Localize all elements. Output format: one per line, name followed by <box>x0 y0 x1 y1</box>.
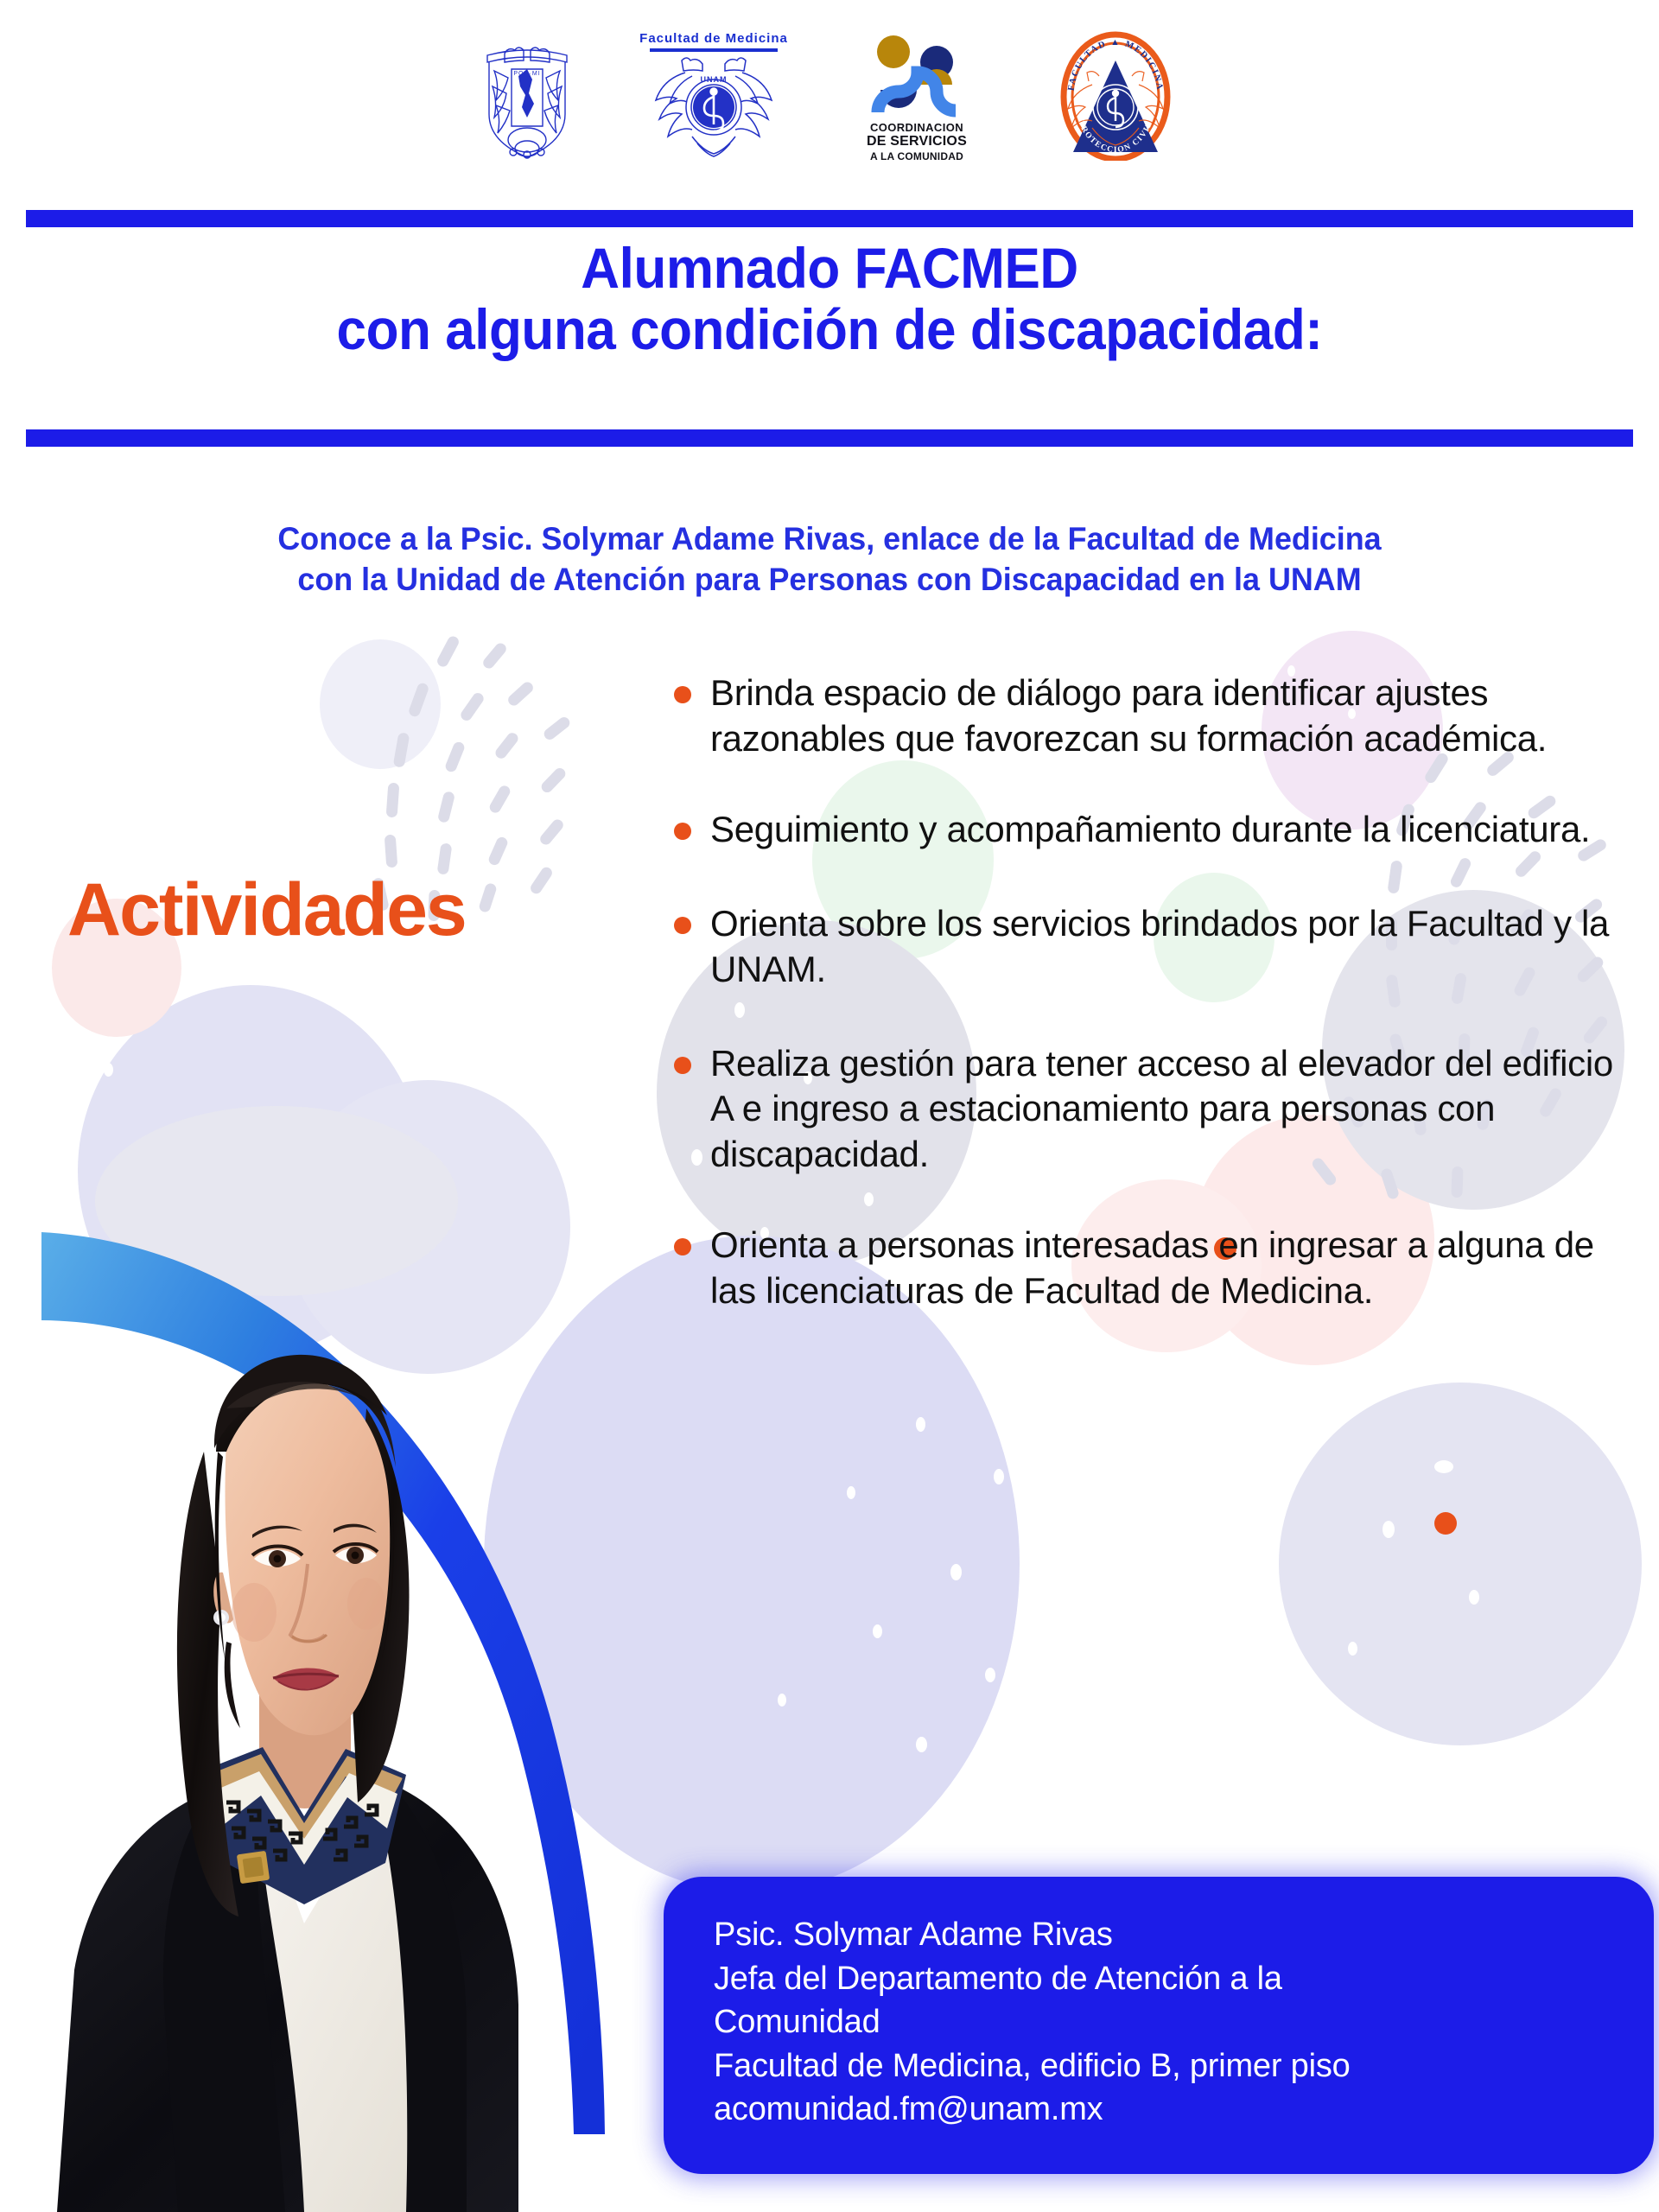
decor-blob-lavender-right <box>1279 1382 1642 1745</box>
proteccion-civil-icon: FACULTAD ▲ MEDICINA PROTECCION CIVIL <box>1051 31 1180 161</box>
activity-item: Realiza gestión para tener acceso al ele… <box>671 1041 1621 1179</box>
bullet-dot-icon <box>674 823 691 840</box>
decor-dash <box>459 691 486 723</box>
decor-dash <box>542 715 572 741</box>
unam-shield-icon: POR·MI <box>479 31 575 161</box>
decor-speckle <box>216 1175 225 1189</box>
decor-dash <box>435 634 461 669</box>
decor-dash <box>487 836 510 867</box>
activity-text: Brinda espacio de diálogo para identific… <box>710 672 1547 759</box>
decor-dash <box>539 766 568 794</box>
unam-shield-logo: POR·MI <box>479 31 575 161</box>
coordinacion-wordmark: COORDINACION DE SERVICIOS A LA COMUNIDAD <box>867 121 967 162</box>
decor-speckle <box>847 1486 855 1499</box>
contact-card: Psic. Solymar Adame Rivas Jefa del Depar… <box>664 1877 1654 2174</box>
coordinacion-line1: COORDINACION <box>867 121 967 134</box>
decor-speckle <box>104 1063 113 1077</box>
portrait-photo <box>0 1192 691 2212</box>
activity-item: Orienta sobre los servicios brindados po… <box>671 901 1621 993</box>
contact-role-line1: Jefa del Departamento de Atención a la <box>714 1957 1654 2001</box>
title-rule-top <box>26 210 1633 227</box>
decor-speckle <box>976 1348 988 1365</box>
activity-item: Orienta a personas interesadas en ingres… <box>671 1223 1621 1314</box>
subtitle: Conoce a la Psic. Solymar Adame Rivas, e… <box>25 518 1634 601</box>
fm-eagle-icon: UNAM <box>649 54 779 159</box>
bullet-dot-icon <box>674 1057 691 1074</box>
decor-speckle <box>1469 1590 1479 1605</box>
fm-logo-title: Facultad de Medicina <box>639 31 788 46</box>
page-title-line1: Alumnado FACMED <box>50 238 1610 299</box>
bullet-dot-icon <box>674 917 691 934</box>
decor-dash <box>437 791 455 823</box>
decor-speckle <box>873 1624 882 1638</box>
decor-speckle <box>985 1668 995 1682</box>
decor-dash <box>538 817 566 847</box>
portrait-block <box>0 1192 691 2212</box>
subtitle-line2: con la Unidad de Atención para Personas … <box>25 559 1634 600</box>
decor-dash <box>385 835 398 868</box>
fm-logo-rule <box>650 48 778 52</box>
page-title-line2: con alguna condición de discapacidad: <box>50 299 1610 360</box>
proteccion-civil-logo: FACULTAD ▲ MEDICINA PROTECCION CIVIL <box>1051 31 1180 161</box>
poster-root: POR·MI Facultad de Medicina <box>0 0 1659 2212</box>
activity-text: Orienta a personas interesadas en ingres… <box>710 1224 1594 1311</box>
decor-speckle <box>950 1564 962 1580</box>
title-rule-bottom <box>26 429 1633 447</box>
section-heading-actividades: Actividades <box>67 873 466 947</box>
coordinacion-line3: A LA COMUNIDAD <box>867 150 967 162</box>
decor-dash <box>478 882 498 913</box>
coordinacion-mark-icon <box>866 31 968 118</box>
activity-item: Brinda espacio de diálogo para identific… <box>671 671 1621 762</box>
decor-dash <box>386 783 400 818</box>
decor-dash <box>481 641 509 671</box>
decor-dash <box>408 682 430 718</box>
decor-dot-orange <box>1434 1512 1457 1535</box>
decor-dash <box>393 732 410 768</box>
contact-location: Facultad de Medicina, edificio B, primer… <box>714 2044 1654 2088</box>
svg-text:UNAM: UNAM <box>701 75 728 84</box>
activity-text: Realiza gestión para tener acceso al ele… <box>710 1043 1613 1175</box>
decor-speckle <box>1348 1642 1357 1656</box>
decor-speckle <box>916 1737 927 1752</box>
contact-name: Psic. Solymar Adame Rivas <box>714 1913 1654 1957</box>
activity-item: Seguimiento y acompañamiento durante la … <box>671 807 1621 853</box>
svg-text:POR·MI: POR·MI <box>513 71 540 77</box>
decor-dash <box>487 784 512 815</box>
decor-dash <box>444 741 467 773</box>
decor-dash <box>529 865 555 895</box>
page-title: Alumnado FACMED con alguna condición de … <box>0 238 1659 361</box>
bullet-dot-icon <box>674 686 691 703</box>
decor-speckle <box>916 1417 925 1432</box>
subtitle-line1: Conoce a la Psic. Solymar Adame Rivas, e… <box>25 518 1634 559</box>
decor-speckle <box>778 1694 786 1707</box>
decor-dash <box>506 680 536 708</box>
facultad-de-medicina-logo: Facultad de Medicina <box>645 31 783 161</box>
contact-email[interactable]: acomunidad.fm@unam.mx <box>714 2088 1654 2132</box>
decor-dash <box>493 731 520 761</box>
decor-speckle <box>1382 1521 1395 1538</box>
decor-speckle <box>1434 1460 1453 1473</box>
decor-speckle <box>173 1123 185 1141</box>
decor-speckle <box>994 1469 1004 1484</box>
activity-text: Seguimiento y acompañamiento durante la … <box>710 809 1590 849</box>
contact-role-line2: Comunidad <box>714 2000 1654 2044</box>
coordinacion-servicios-comunidad-logo: COORDINACION DE SERVICIOS A LA COMUNIDAD <box>852 31 982 162</box>
coordinacion-line2: DE SERVICIOS <box>867 134 967 150</box>
activity-text: Orienta sobre los servicios brindados po… <box>710 903 1609 989</box>
decor-blob-lavender-mid <box>320 639 441 769</box>
logo-row: POR·MI Facultad de Medicina <box>0 31 1659 169</box>
activities-list: Brinda espacio de diálogo para identific… <box>671 671 1621 1314</box>
